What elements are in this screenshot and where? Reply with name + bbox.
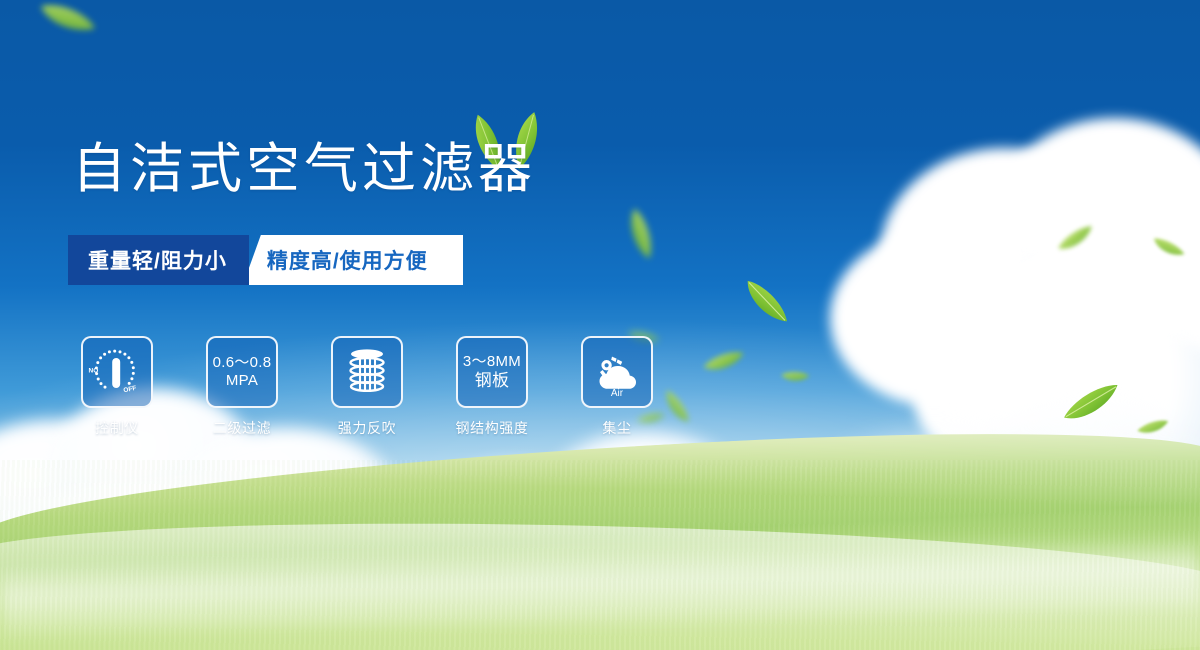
tagline-bar: 重量轻/阻力小 精度高/使用方便: [68, 235, 463, 285]
steel-plate-label: 钢板: [463, 371, 521, 391]
tagline-right-text: 精度高/使用方便: [243, 235, 463, 285]
feature-item-two-stage-filter[interactable]: 0.6～0.8 MPA 二级过滤: [197, 336, 287, 438]
filter-cartridge-icon: [339, 344, 395, 400]
steel-thickness-value: 3～8MM: [463, 353, 521, 371]
feature-item-dust-collection[interactable]: Air 集尘: [572, 336, 662, 438]
feature-icon-box: 0.6～0.8 MPA: [206, 336, 278, 408]
feature-label: 钢结构强度: [456, 418, 529, 438]
feature-label: 强力反吹: [338, 418, 396, 438]
feature-icon-box: Air: [581, 336, 653, 408]
feature-label: 二级过滤: [213, 418, 271, 438]
feature-icon-box: NO OFF: [81, 336, 153, 408]
feature-item-reverse-blow[interactable]: 强力反吹: [322, 336, 412, 438]
gauge-on-label: NO: [89, 368, 99, 375]
feature-label: 控制仪: [95, 418, 139, 438]
tagline-left-text: 重量轻/阻力小: [68, 235, 249, 285]
feature-icon-row: NO OFF 控制仪 0.6～0.8 MPA 二级过滤: [72, 336, 662, 438]
air-label: Air: [611, 388, 624, 399]
feature-item-steel-strength[interactable]: 3～8MM 钢板 钢结构强度: [447, 336, 537, 438]
feature-label: 集尘: [602, 418, 631, 438]
feature-icon-box: [331, 336, 403, 408]
pressure-unit-value: MPA: [213, 372, 272, 390]
banner-content: 自洁式空气过滤器 重量轻/阻力小 精度高/使用方便: [0, 0, 1200, 650]
steel-plate-text-icon: 3～8MM 钢板: [463, 353, 521, 391]
pressure-range-value: 0.6～0.8: [213, 354, 272, 372]
feature-icon-box: 3～8MM 钢板: [456, 336, 528, 408]
pressure-text-icon: 0.6～0.8 MPA: [213, 354, 272, 389]
feature-item-controller[interactable]: NO OFF 控制仪: [72, 336, 162, 438]
gauge-off-label: OFF: [123, 385, 137, 395]
page-title: 自洁式空气过滤器: [72, 142, 536, 196]
air-cloud-icon: Air: [588, 344, 646, 400]
gauge-dial-icon: NO OFF: [87, 345, 147, 399]
product-hero-banner: 自洁式空气过滤器 重量轻/阻力小 精度高/使用方便: [0, 0, 1200, 650]
